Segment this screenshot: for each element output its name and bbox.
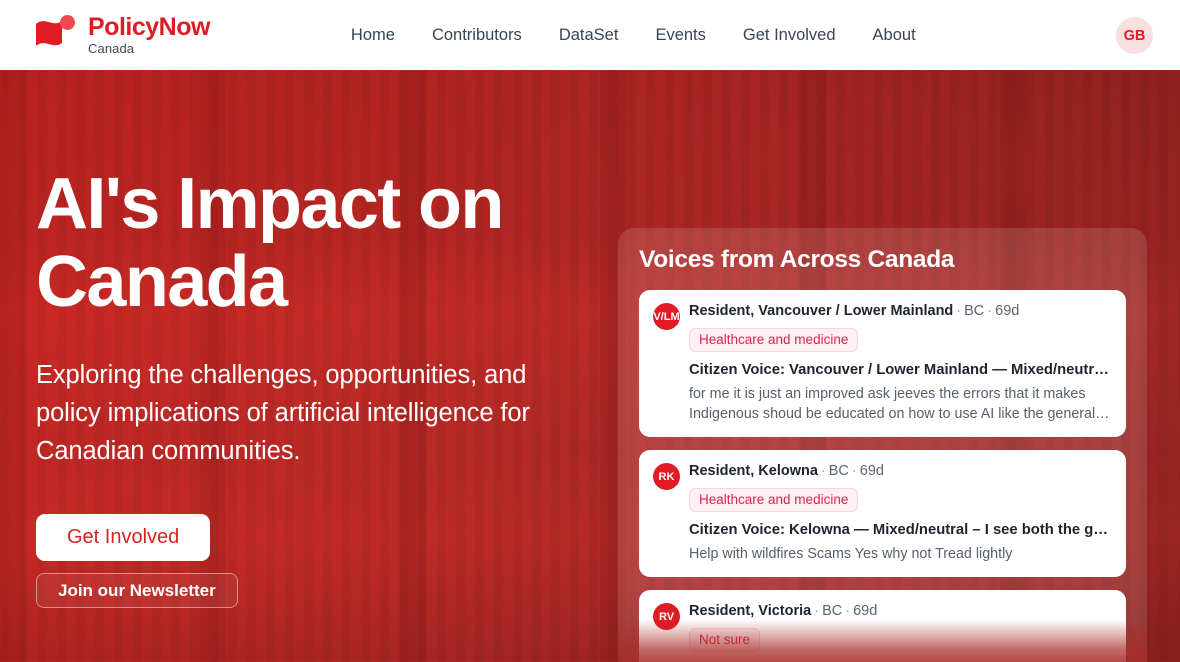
voice-avatar: RV [653,603,680,630]
hero-title: AI's Impact on Canada [36,165,506,321]
nav-item-contributors[interactable]: Contributors [432,26,522,45]
voice-snippet: for me it is just an improved ask jeeves… [689,384,1112,424]
join-newsletter-button[interactable]: Join our Newsletter [36,573,238,608]
voices-panel: Voices from Across Canada V/LM Resident,… [618,228,1147,662]
voice-card[interactable]: RK Resident, Kelowna·BC·69d Healthcare a… [639,450,1126,577]
user-avatar[interactable]: GB [1116,17,1153,54]
flag-pin-logo-icon [32,14,78,56]
voices-panel-title: Voices from Across Canada [639,246,954,274]
brand-subtitle: Canada [88,42,210,55]
hero-copy-block: AI's Impact on Canada Exploring the chal… [36,165,581,608]
hero-subtitle: Exploring the challenges, opportunities,… [36,356,551,470]
voice-avatar: RK [653,463,680,490]
voice-topic-tag[interactable]: Not sure [689,628,760,652]
voice-topic-tag[interactable]: Healthcare and medicine [689,488,858,512]
voice-author: Resident, Vancouver / Lower Mainland [689,303,953,319]
nav-item-get-involved[interactable]: Get Involved [743,26,836,45]
voice-region: BC [822,603,842,619]
nav-item-events[interactable]: Events [655,26,705,45]
voice-card[interactable]: V/LM Resident, Vancouver / Lower Mainlan… [639,290,1126,437]
voice-headline: Citizen Voice: Kelowna — Mixed/neutral –… [689,521,1112,540]
voice-topic-tag[interactable]: Healthcare and medicine [689,328,858,352]
voices-card-list[interactable]: V/LM Resident, Vancouver / Lower Mainlan… [639,290,1126,662]
hero-actions: Get Involved Join our Newsletter [36,514,581,608]
voice-author: Resident, Kelowna [689,463,818,479]
nav-item-home[interactable]: Home [351,26,395,45]
nav-item-about[interactable]: About [873,26,916,45]
brand-name: PolicyNow [88,15,210,40]
voice-snippet: Help with wildfires Scams Yes why not Tr… [689,544,1112,564]
nav-item-dataset[interactable]: DataSet [559,26,619,45]
voice-author: Resident, Victoria [689,603,811,619]
voice-avatar: V/LM [653,303,680,330]
voice-meta: Resident, Vancouver / Lower Mainland·BC·… [689,302,1112,320]
voice-headline: Citizen Voice: Vancouver / Lower Mainlan… [689,361,1112,380]
voice-card[interactable]: RV Resident, Victoria·BC·69d Not sure Ci… [639,590,1126,662]
brand-logo-link[interactable]: PolicyNow Canada [32,14,210,56]
voice-age: 69d [995,303,1019,319]
hero-section: AI's Impact on Canada Exploring the chal… [0,70,1180,662]
voice-region: BC [829,463,849,479]
voice-region: BC [964,303,984,319]
voice-meta: Resident, Kelowna·BC·69d [689,462,1112,480]
voice-meta: Resident, Victoria·BC·69d [689,602,1112,620]
site-header: PolicyNow Canada Home Contributors DataS… [0,0,1180,70]
voice-age: 69d [853,603,877,619]
voice-age: 69d [860,463,884,479]
get-involved-button[interactable]: Get Involved [36,514,210,561]
main-navigation: Home Contributors DataSet Events Get Inv… [351,26,916,45]
